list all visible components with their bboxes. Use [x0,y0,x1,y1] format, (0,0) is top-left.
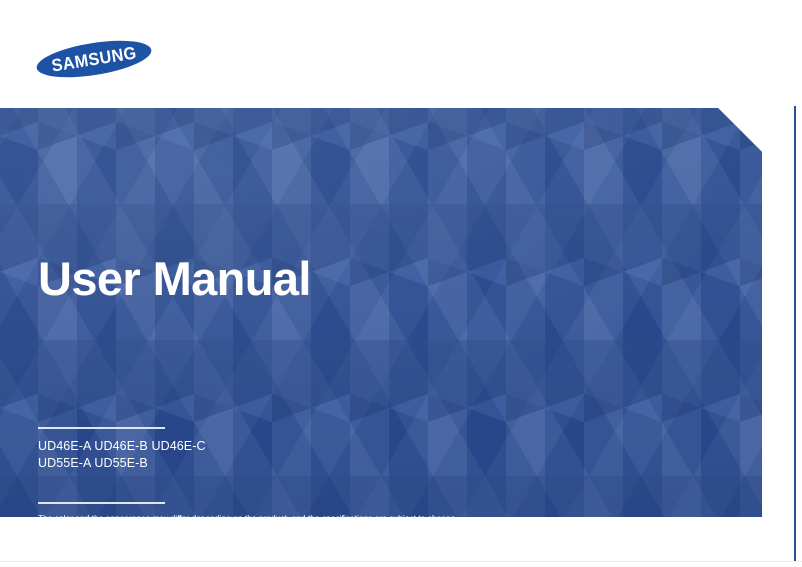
divider-bottom [38,502,165,504]
document-page: SAMSUNG User Manual UD46E-A UD46E-B UD46… [0,0,802,567]
divider-top [38,427,165,429]
right-edge-accent-line [794,106,796,561]
logo-wordmark: SAMSUNG [38,33,150,85]
model-number-line: UD46E-A UD46E-B UD46E-C [38,438,206,455]
disclaimer-text: The color and the appearance may differ … [38,513,458,517]
cover-banner: User Manual UD46E-A UD46E-B UD46E-C UD55… [0,108,762,517]
page-title: User Manual [38,250,311,308]
page-bottom-hairline [0,561,802,562]
samsung-logo: SAMSUNG [36,41,152,77]
model-number-list: UD46E-A UD46E-B UD46E-C UD55E-A UD55E-B [38,438,206,472]
model-number-line: UD55E-A UD55E-B [38,455,206,472]
banner-content: User Manual UD46E-A UD46E-B UD46E-C UD55… [0,108,762,517]
